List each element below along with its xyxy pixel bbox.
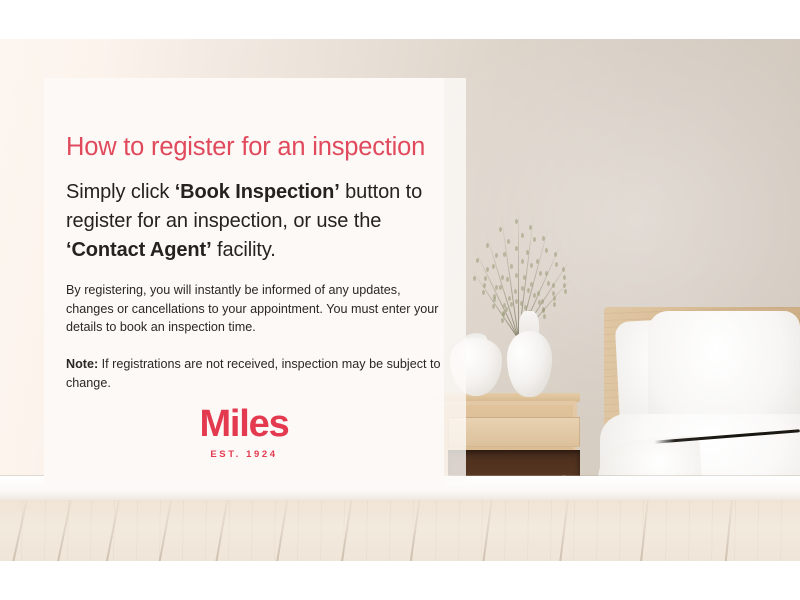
branch-bud — [495, 285, 498, 290]
branch-bud — [492, 304, 495, 309]
branch-bud — [515, 246, 518, 251]
logo-wordmark: Miles — [44, 403, 444, 445]
branch-bud — [563, 275, 566, 280]
branch-bud — [505, 307, 508, 312]
branch-bud — [476, 258, 479, 263]
branch-bud — [553, 296, 556, 301]
branch-bud — [530, 263, 533, 268]
branch-bud — [473, 276, 476, 281]
lede-text-3: facility. — [212, 239, 276, 261]
branch-bud — [547, 281, 550, 286]
book-inspection-label: ‘Book Inspection’ — [175, 181, 340, 203]
branch-bud — [486, 243, 489, 248]
note-label: Note: — [66, 357, 98, 371]
branch-bud — [486, 267, 489, 272]
branch-bud — [514, 289, 517, 294]
branch-bud — [545, 271, 548, 276]
branch-bud — [510, 302, 513, 307]
branch-bud — [533, 237, 536, 242]
branch-bud — [499, 285, 502, 290]
body-paragraph: By registering, you will instantly be in… — [66, 281, 448, 337]
branch-bud — [529, 225, 532, 230]
brand-logo: Miles EST. 1924 — [44, 403, 444, 460]
branch-bud — [526, 250, 529, 255]
branch-bud — [510, 264, 513, 269]
lede-paragraph: Simply click ‘Book Inspection’ button to… — [66, 178, 458, 265]
logo-established: EST. 1924 — [44, 449, 444, 460]
branch-bud — [564, 289, 567, 294]
branch-bud — [537, 291, 540, 296]
branch-bud — [552, 283, 555, 288]
branch-bud — [501, 275, 504, 280]
contact-agent-label: ‘Contact Agent’ — [66, 239, 212, 261]
branch-bud — [508, 296, 511, 301]
branch-bud — [484, 276, 487, 281]
branch-bud — [501, 318, 504, 323]
branch-bud — [507, 239, 510, 244]
wood-floor — [0, 500, 800, 561]
branch-bud — [492, 264, 495, 269]
nightstand-drawer — [448, 417, 580, 447]
branch-bud — [482, 290, 485, 295]
branch-bud — [555, 262, 558, 267]
branch-bud — [483, 283, 486, 288]
branch-bud — [503, 252, 506, 257]
page-title: How to register for an inspection — [66, 133, 456, 162]
bedroom-photo: How to register for an inspection Simply… — [0, 39, 800, 561]
branch-bud — [521, 259, 524, 264]
vase-right — [507, 331, 552, 397]
branch-bud — [539, 271, 542, 276]
branch-bud — [521, 233, 524, 238]
branch-bud — [543, 314, 546, 319]
branch-bud — [520, 301, 523, 306]
note-paragraph: Note: If registrations are not received,… — [66, 355, 448, 392]
floor-grain — [0, 500, 800, 561]
screenshot-canvas: How to register for an inspection Simply… — [0, 0, 800, 600]
branch-bud — [499, 227, 502, 232]
lede-text-1: Simply click — [66, 181, 175, 203]
branch-bud — [545, 248, 548, 253]
branch-bud — [506, 277, 509, 282]
branch-bud — [515, 273, 518, 278]
note-text: If registrations are not received, inspe… — [66, 357, 441, 390]
branch-bud — [495, 253, 498, 258]
card-content: How to register for an inspection Simply… — [44, 78, 466, 482]
branch-bud — [502, 312, 505, 317]
branch-bud — [541, 299, 544, 304]
branch-bud — [554, 252, 557, 257]
branch-bud — [542, 308, 545, 313]
branch-bud — [562, 267, 565, 272]
branch-bud — [553, 302, 556, 307]
branch-bud — [563, 283, 566, 288]
